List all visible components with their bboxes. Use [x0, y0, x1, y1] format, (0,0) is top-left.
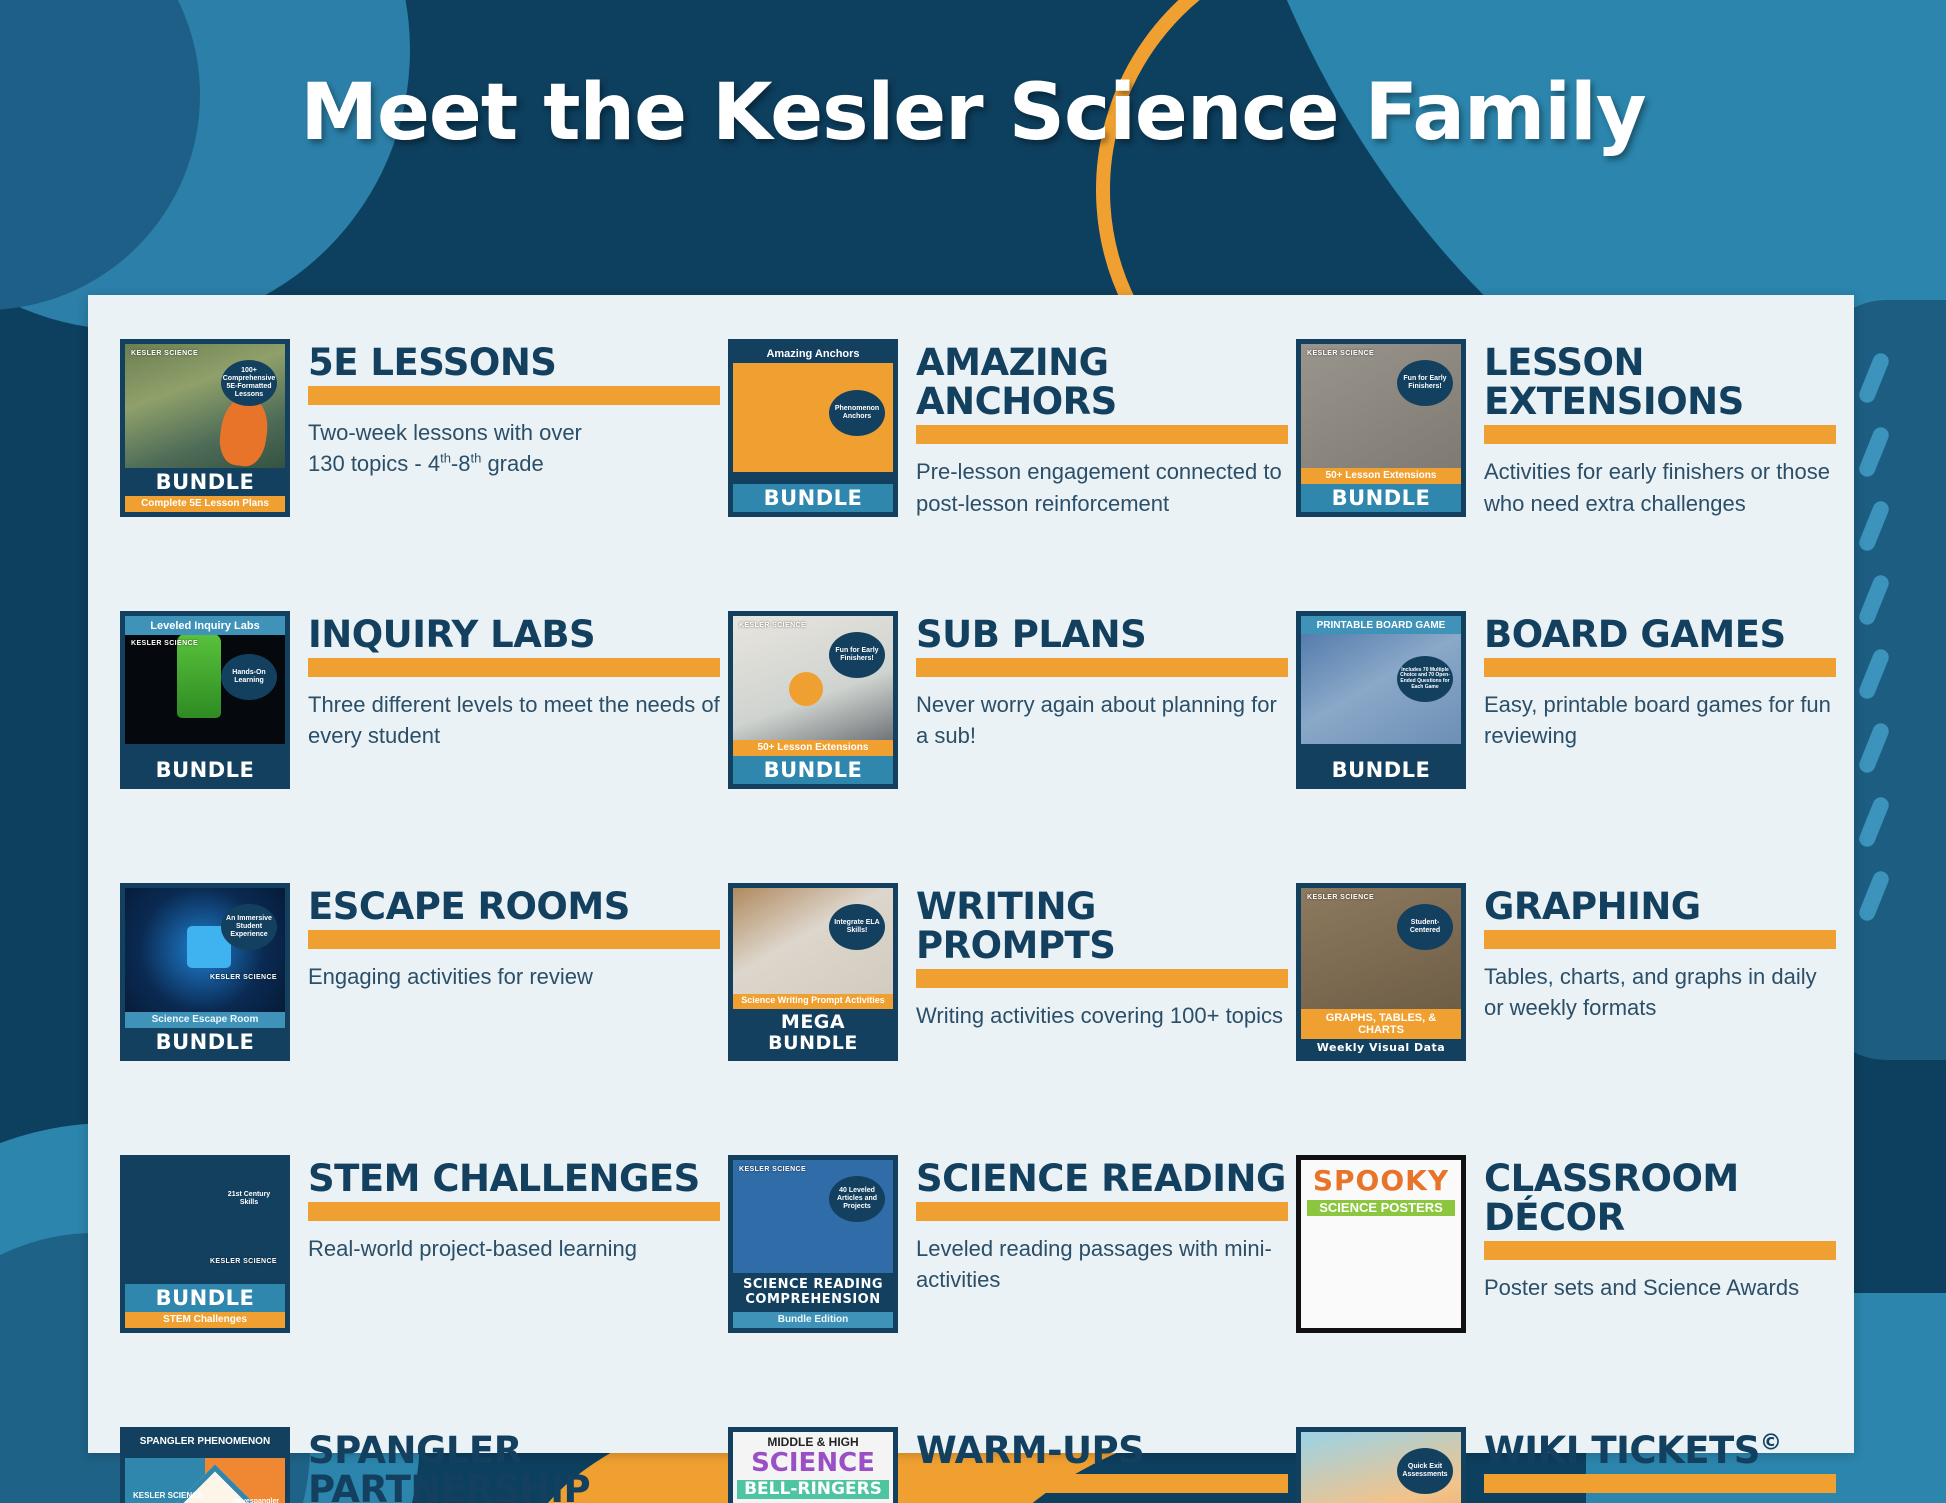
product-body: 5E LESSONS Two-week lessons with over 13…: [308, 339, 720, 480]
title-underline-bar: [1484, 658, 1836, 677]
thumb-subcaption: GRAPHS, TABLES, & CHARTS: [1301, 1009, 1461, 1039]
desc-line-2c: grade: [481, 451, 543, 476]
title-underline-bar: [308, 386, 720, 405]
thumb-badge: An Immersive Student Experience: [221, 904, 277, 950]
product-description: Tables, charts, and graphs in daily or w…: [1484, 961, 1836, 1023]
product-card-escape-rooms[interactable]: KESLER SCIENCE An Immersive Student Expe…: [120, 883, 720, 1155]
product-thumbnail: MIDDLE & HIGH SCIENCE BELL-RINGERS FULL …: [728, 1427, 898, 1503]
thumb-badge: Includes 70 Multiple Choice and 70 Open-…: [1397, 656, 1453, 702]
kesler-logo-icon: KESLER SCIENCE: [210, 974, 277, 981]
product-description: Leveled reading passages with mini-activ…: [916, 1233, 1288, 1295]
product-card-science-reading[interactable]: KESLER SCIENCE 40 Leveled Articles and P…: [728, 1155, 1288, 1427]
product-title: AMAZING ANCHORS: [916, 343, 1288, 421]
product-thumbnail: KESLER SCIENCE Quick Exit Assessments WI…: [1296, 1427, 1466, 1503]
thumb-caption: BUNDLE: [125, 756, 285, 784]
product-thumbnail: KESLER SCIENCE 100+ Comprehensive 5E-For…: [120, 339, 290, 517]
decor-top-left-circle: [0, 0, 410, 330]
product-thumbnail: Amazing Anchors Phenomenon Anchors BUNDL…: [728, 339, 898, 517]
thumb-subcaption: STEM Challenges: [125, 1312, 285, 1328]
product-description: Engaging activities for review: [308, 961, 720, 992]
products-grid: KESLER SCIENCE 100+ Comprehensive 5E-For…: [120, 339, 1820, 1503]
thumb-bundle-label: BUNDLE: [125, 468, 285, 496]
product-description: Two-week lessons with over 130 topics - …: [308, 417, 720, 479]
kesler-logo-icon: KESLER SCIENCE: [131, 350, 198, 357]
product-description: Never worry again about planning for a s…: [916, 689, 1288, 751]
title-underline-bar: [916, 658, 1288, 677]
product-body: WIKI TICKETS© Fun, quick formative asses…: [1484, 1427, 1836, 1503]
title-underline-bar: [1484, 930, 1836, 949]
thumb-caption: SCIENCE READING COMPREHENSION Bundle Edi…: [733, 1273, 893, 1328]
product-body: STEM CHALLENGES Real-world project-based…: [308, 1155, 720, 1264]
title-underline-bar: [916, 1202, 1288, 1221]
product-title: SUB PLANS: [916, 615, 1288, 654]
title-underline-bar: [308, 658, 720, 677]
product-body: BOARD GAMES Easy, printable board games …: [1484, 611, 1836, 752]
product-thumbnail: KESLER SCIENCE 21st Century Skills BUNDL…: [120, 1155, 290, 1333]
thumb-subcaption: Complete 5E Lesson Plans: [125, 496, 285, 512]
title-underline-bar: [916, 969, 1288, 988]
title-underline-bar: [916, 425, 1288, 444]
kesler-logo-icon: KESLER SCIENCE: [131, 640, 198, 647]
product-body: SCIENCE READING Leveled reading passages…: [916, 1155, 1288, 1296]
thumb-badge: Integrate ELA Skills!: [829, 904, 885, 950]
title-underline-bar: [1484, 1474, 1836, 1493]
product-body: LESSON EXTENSIONS Activities for early f…: [1484, 339, 1836, 519]
product-body: GRAPHING Tables, charts, and graphs in d…: [1484, 883, 1836, 1024]
product-title: WRITING PROMPTS: [916, 887, 1288, 965]
thumb-bundle-label: SCIENCE READING COMPREHENSION: [733, 1273, 893, 1312]
title-underline-bar: [916, 1474, 1288, 1493]
thumb-subcaption: 50+ Lesson Extensions: [733, 740, 893, 756]
product-body: WRITING PROMPTS Writing activities cover…: [916, 883, 1288, 1032]
product-body: SPANGLER PARTNERSHIP Lessons built aroun…: [308, 1427, 720, 1503]
product-title: ESCAPE ROOMS: [308, 887, 720, 926]
product-description: Three different levels to meet the needs…: [308, 689, 720, 751]
thumb-badge: 21st Century Skills: [221, 1176, 277, 1222]
product-description: Activities for early finishers or those …: [1484, 456, 1836, 518]
desc-line-2b: -8: [451, 451, 471, 476]
product-title: CLASSROOM DÉCOR: [1484, 1159, 1836, 1237]
product-thumbnail: PRINTABLE BOARD GAME Includes 70 Multipl…: [1296, 611, 1466, 789]
product-card-amazing-anchors[interactable]: Amazing Anchors Phenomenon Anchors BUNDL…: [728, 339, 1288, 611]
thumb-caption: 50+ Lesson Extensions BUNDLE: [733, 740, 893, 784]
thumb-badge: Fun for Early Finishers!: [1397, 360, 1453, 406]
thumb-top-tag: SPANGLER PHENOMENON: [125, 1432, 285, 1450]
desc-sup-a: th: [440, 451, 451, 466]
thumb-top-tag: Leveled Inquiry Labs: [125, 616, 285, 635]
thumb-bundle-label: BUNDLE: [125, 1284, 285, 1312]
thumb-subcaption: Science Writing Prompt Activities: [733, 994, 893, 1009]
desc-sup-b: th: [470, 451, 481, 466]
product-thumbnail: SPANGLER PHENOMENON KESLER SCIENCE steve…: [120, 1427, 290, 1503]
thumb-badge: 100+ Comprehensive 5E-Formatted Lessons: [221, 360, 277, 406]
product-card-warm-ups[interactable]: MIDDLE & HIGH SCIENCE BELL-RINGERS FULL …: [728, 1427, 1288, 1503]
product-thumbnail: KESLER SCIENCE Fun for Early Finishers! …: [1296, 339, 1466, 517]
product-card-board-games[interactable]: PRINTABLE BOARD GAME Includes 70 Multipl…: [1296, 611, 1836, 883]
thumb-top-tag: Amazing Anchors: [733, 344, 893, 363]
thumb-caption: BUNDLE STEM Challenges: [125, 1284, 285, 1328]
kesler-logo-icon: KESLER SCIENCE: [1307, 350, 1374, 357]
thumb-badge: Student-Centered: [1397, 904, 1453, 950]
thumb-heading-science-posters: SCIENCE POSTERS: [1307, 1200, 1455, 1216]
title-underline-bar: [1484, 1241, 1836, 1260]
product-title: BOARD GAMES: [1484, 615, 1836, 654]
title-underline-bar: [308, 1202, 720, 1221]
kesler-logo-icon: KESLER SCIENCE: [739, 622, 806, 629]
product-title: INQUIRY LABS: [308, 615, 720, 654]
thumb-bundle-label: BUNDLE: [733, 756, 893, 784]
thumb-bundle-label: BUNDLE: [125, 1028, 285, 1056]
product-card-lesson-extensions[interactable]: KESLER SCIENCE Fun for Early Finishers! …: [1296, 339, 1836, 611]
product-description: Pre-lesson engagement connected to post-…: [916, 456, 1288, 518]
thumb-caption: Science Escape Room BUNDLE: [125, 1012, 285, 1056]
thumb-bundle-label: BUNDLE: [733, 484, 893, 512]
thumb-caption: 50+ Lesson Extensions BUNDLE: [1301, 468, 1461, 512]
product-description: Easy, printable board games for fun revi…: [1484, 689, 1836, 751]
thumb-heading-bellringers: BELL-RINGERS: [737, 1480, 889, 1499]
title-underline-bar: [1484, 425, 1836, 444]
products-panel: KESLER SCIENCE 100+ Comprehensive 5E-For…: [88, 295, 1854, 1453]
product-card-graphing[interactable]: KESLER SCIENCE Student-Centered GRAPHS, …: [1296, 883, 1836, 1155]
product-card-5e-lessons[interactable]: KESLER SCIENCE 100+ Comprehensive 5E-For…: [120, 339, 720, 611]
kesler-logo-icon: KESLER SCIENCE: [210, 1258, 277, 1265]
thumb-bundle-label: BUNDLE: [1301, 484, 1461, 512]
product-card-spangler-partnership[interactable]: SPANGLER PHENOMENON KESLER SCIENCE steve…: [120, 1427, 720, 1503]
product-card-sub-plans[interactable]: KESLER SCIENCE Fun for Early Finishers! …: [728, 611, 1288, 883]
thumb-heading-science: SCIENCE: [737, 1450, 889, 1476]
product-thumbnail: KESLER SCIENCE 40 Leveled Articles and P…: [728, 1155, 898, 1333]
product-card-stem-challenges[interactable]: KESLER SCIENCE 21st Century Skills BUNDL…: [120, 1155, 720, 1427]
desc-line-1: Two-week lessons with over: [308, 420, 582, 445]
product-body: ESCAPE ROOMS Engaging activities for rev…: [308, 883, 720, 992]
product-title: STEM CHALLENGES: [308, 1159, 720, 1198]
thumb-caption: BUNDLE: [733, 484, 893, 512]
thumb-caption: BUNDLE Complete 5E Lesson Plans: [125, 468, 285, 512]
product-card-inquiry-labs[interactable]: Leveled Inquiry Labs KESLER SCIENCE Hand…: [120, 611, 720, 883]
product-title-text: WIKI TICKETS: [1484, 1429, 1760, 1472]
thumb-caption: Science Writing Prompt Activities MEGA B…: [733, 994, 893, 1056]
kesler-logo-icon: KESLER SCIENCE: [739, 1166, 806, 1173]
product-thumbnail: SPOOKY SCIENCE POSTERS: [1296, 1155, 1466, 1333]
thumb-bundle-label: MEGA BUNDLE: [733, 1009, 893, 1056]
product-card-writing-prompts[interactable]: Integrate ELA Skills! Science Writing Pr…: [728, 883, 1288, 1155]
thumb-badge: Phenomenon Anchors: [829, 390, 885, 436]
product-description: Poster sets and Science Awards: [1484, 1272, 1836, 1303]
product-title: WARM-UPS: [916, 1431, 1288, 1470]
thumb-badge: 40 Leveled Articles and Projects: [829, 1176, 885, 1222]
product-thumbnail: Leveled Inquiry Labs KESLER SCIENCE Hand…: [120, 611, 290, 789]
kesler-logo-icon: KESLER SCIENCE: [133, 1492, 203, 1500]
thumb-top-tag: PRINTABLE BOARD GAME: [1301, 616, 1461, 634]
kesler-logo-icon: KESLER SCIENCE: [1307, 894, 1374, 901]
thumb-badge: Fun for Early Finishers!: [829, 632, 885, 678]
thumb-bundle-label: BUNDLE: [1301, 756, 1461, 784]
thumb-subcaption: 50+ Lesson Extensions: [1301, 468, 1461, 484]
product-body: WARM-UPS Bellringers for the entire year: [916, 1427, 1288, 1503]
page-title: Meet the Kesler Science Family: [0, 68, 1946, 158]
desc-line-2a: 130 topics - 4: [308, 451, 440, 476]
copyright-mark: ©: [1760, 1431, 1782, 1456]
product-title: 5E LESSONS: [308, 343, 720, 382]
product-title: GRAPHING: [1484, 887, 1836, 926]
thumb-subcaption: Bundle Edition: [733, 1312, 893, 1328]
product-title: LESSON EXTENSIONS: [1484, 343, 1836, 421]
product-title: SPANGLER PARTNERSHIP: [308, 1431, 720, 1503]
thumb-bundle-label: Weekly Visual Data: [1301, 1039, 1461, 1056]
infographic-canvas: Meet the Kesler Science Family KESLER SC…: [0, 0, 1946, 1503]
thumb-heading-spooky: SPOOKY: [1301, 1166, 1461, 1197]
product-card-classroom-decor[interactable]: SPOOKY SCIENCE POSTERS CLASSROOM DÉCOR P…: [1296, 1155, 1836, 1427]
thumb-subcaption: Science Escape Room: [125, 1012, 285, 1028]
product-description: Writing activities covering 100+ topics: [916, 1000, 1288, 1031]
product-body: INQUIRY LABS Three different levels to m…: [308, 611, 720, 752]
thumb-bundle-label: BUNDLE: [125, 756, 285, 784]
product-card-wiki-tickets[interactable]: KESLER SCIENCE Quick Exit Assessments WI…: [1296, 1427, 1836, 1503]
thumb-badge: Hands-On Learning: [221, 654, 277, 700]
product-thumbnail: KESLER SCIENCE Fun for Early Finishers! …: [728, 611, 898, 789]
product-thumbnail: KESLER SCIENCE Student-Centered GRAPHS, …: [1296, 883, 1466, 1061]
product-thumbnail: Integrate ELA Skills! Science Writing Pr…: [728, 883, 898, 1061]
thumb-caption: BUNDLE: [1301, 756, 1461, 784]
title-underline-bar: [308, 930, 720, 949]
product-description: Real-world project-based learning: [308, 1233, 720, 1264]
product-body: CLASSROOM DÉCOR Poster sets and Science …: [1484, 1155, 1836, 1304]
product-body: AMAZING ANCHORS Pre-lesson engagement co…: [916, 339, 1288, 519]
product-title: WIKI TICKETS©: [1484, 1431, 1836, 1470]
product-title: SCIENCE READING: [916, 1159, 1288, 1198]
thumb-caption: GRAPHS, TABLES, & CHARTS Weekly Visual D…: [1301, 1009, 1461, 1056]
product-thumbnail: KESLER SCIENCE An Immersive Student Expe…: [120, 883, 290, 1061]
thumb-badge: Quick Exit Assessments: [1397, 1448, 1453, 1494]
product-body: SUB PLANS Never worry again about planni…: [916, 611, 1288, 752]
spangler-logo-icon: stevespangler: [232, 1498, 279, 1503]
